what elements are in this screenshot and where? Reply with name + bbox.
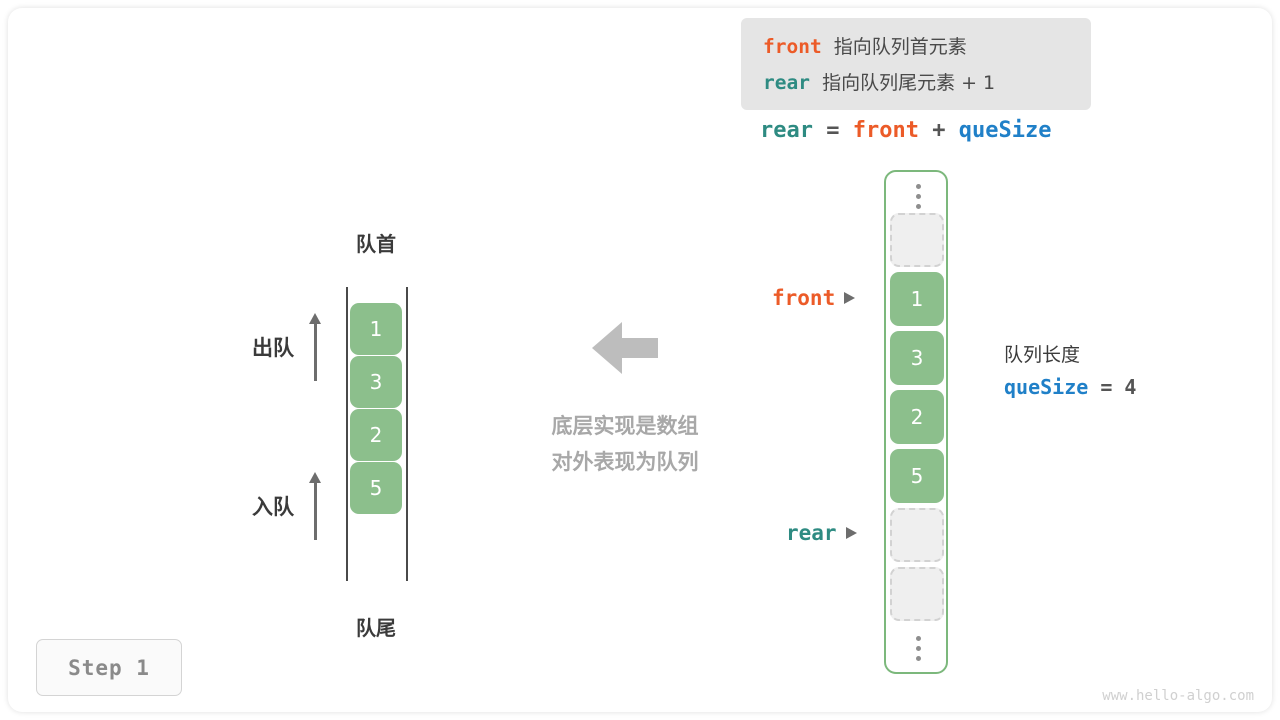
rear-pointer: rear bbox=[786, 521, 857, 545]
dequeue-annotation: 出队 bbox=[252, 313, 322, 381]
array-container: 1 3 2 5 bbox=[884, 170, 948, 674]
legend-text-rear: 指向队列尾元素 + 1 bbox=[810, 72, 995, 94]
front-pointer: front bbox=[772, 286, 855, 310]
rear-pointer-label: rear bbox=[786, 521, 837, 545]
formula-equals: = bbox=[813, 118, 853, 143]
quesize-block: 队列长度 queSize = 4 bbox=[1004, 340, 1136, 399]
watermark: www.hello-algo.com bbox=[1102, 688, 1254, 704]
formula-quesize: queSize bbox=[959, 118, 1052, 143]
center-caption-line2: 对外表现为队列 bbox=[495, 444, 755, 480]
rear-formula: rear = front + queSize bbox=[760, 118, 1051, 143]
array-cell: 1 bbox=[890, 272, 944, 326]
queue-cell: 2 bbox=[350, 409, 402, 461]
quesize-expression: queSize = 4 bbox=[1004, 375, 1136, 399]
legend-line-rear: rear 指向队列尾元素 + 1 bbox=[763, 65, 1091, 101]
diagram-canvas: front 指向队列首元素 rear 指向队列尾元素 + 1 rear = fr… bbox=[0, 0, 1280, 720]
enqueue-annotation: 入队 bbox=[252, 472, 322, 540]
queue-cell: 1 bbox=[350, 303, 402, 355]
top-ellipsis-icon bbox=[886, 176, 950, 216]
arrow-left-icon bbox=[592, 322, 658, 374]
formula-plus: + bbox=[919, 118, 959, 143]
front-pointer-label: front bbox=[772, 286, 835, 310]
formula-rear: rear bbox=[760, 118, 813, 143]
quesize-value: 4 bbox=[1124, 375, 1136, 399]
quesize-caption: 队列长度 bbox=[1004, 340, 1136, 367]
pointer-legend-box: front 指向队列首元素 rear 指向队列尾元素 + 1 bbox=[741, 18, 1091, 110]
array-cell bbox=[890, 508, 944, 562]
quesize-equals: = bbox=[1088, 375, 1124, 399]
quesize-name: queSize bbox=[1004, 375, 1088, 399]
center-caption-line1: 底层实现是数组 bbox=[495, 408, 755, 444]
array-cell: 5 bbox=[890, 449, 944, 503]
arrow-right-icon bbox=[846, 527, 857, 539]
queue-cell: 5 bbox=[350, 462, 402, 514]
legend-text-front: 指向队列首元素 bbox=[822, 36, 967, 58]
queue-cell: 3 bbox=[350, 356, 402, 408]
queue-head-label: 队首 bbox=[316, 228, 436, 257]
enqueue-label: 入队 bbox=[252, 491, 294, 521]
formula-front: front bbox=[853, 118, 919, 143]
queue-tail-label: 队尾 bbox=[316, 612, 436, 641]
arrow-up-icon bbox=[308, 472, 322, 540]
legend-keyword-rear: rear bbox=[763, 71, 810, 94]
array-cell: 3 bbox=[890, 331, 944, 385]
queue-rail-left bbox=[346, 287, 348, 581]
legend-line-front: front 指向队列首元素 bbox=[763, 29, 1091, 65]
step-badge: Step 1 bbox=[36, 639, 182, 696]
array-cell: 2 bbox=[890, 390, 944, 444]
dequeue-label: 出队 bbox=[252, 332, 294, 362]
array-cell bbox=[890, 213, 944, 267]
array-cell bbox=[890, 567, 944, 621]
legend-keyword-front: front bbox=[763, 35, 822, 58]
center-caption: 底层实现是数组 对外表现为队列 bbox=[495, 408, 755, 480]
arrow-right-icon bbox=[844, 292, 855, 304]
queue-rail-right bbox=[406, 287, 408, 581]
arrow-up-icon bbox=[308, 313, 322, 381]
bottom-ellipsis-icon bbox=[886, 628, 950, 668]
